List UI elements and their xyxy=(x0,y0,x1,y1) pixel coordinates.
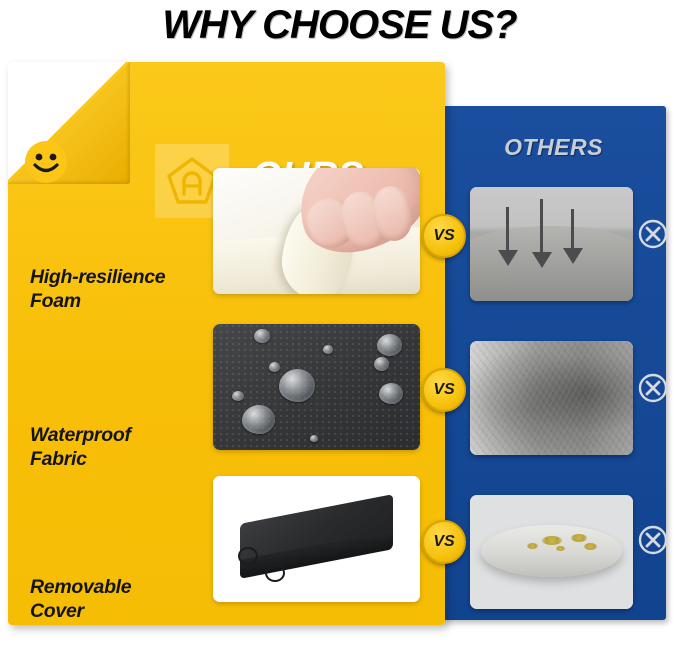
feature-label-removable-cover: Removable Cover xyxy=(30,575,210,624)
circled-x-icon xyxy=(638,373,668,403)
down-arrow-icon xyxy=(540,199,543,253)
cushion-tie xyxy=(265,564,285,582)
water-droplet xyxy=(269,362,280,372)
vs-badge: VS xyxy=(422,520,466,564)
wet-fabric-photo xyxy=(470,341,633,455)
vs-badge: VS xyxy=(422,214,466,258)
ours-image-removable-cover xyxy=(213,476,420,602)
feature-label-line1: High-resilience xyxy=(30,266,165,288)
page-title: WHY CHOOSE US? xyxy=(0,0,679,50)
water-droplet xyxy=(323,345,333,354)
others-image-waterproof-fabric xyxy=(470,341,633,455)
circled-x-icon xyxy=(638,525,668,555)
water-droplet xyxy=(379,383,403,404)
others-panel: OTHERS xyxy=(441,106,666,620)
fabric-texture xyxy=(470,341,633,455)
round-cushion xyxy=(481,525,621,577)
others-heading: OTHERS xyxy=(441,134,666,161)
stained-cushion-photo xyxy=(470,495,633,609)
feature-label-line2: Foam xyxy=(30,290,81,312)
circled-x-icon xyxy=(638,219,668,249)
feature-label-waterproof-fabric: Waterproof Fabric xyxy=(30,423,210,472)
ours-panel: OURS High-resilience Foam Waterproof Fab… xyxy=(8,62,445,625)
feature-label-line1: Waterproof xyxy=(30,424,131,446)
ours-image-high-resilience-foam xyxy=(213,168,420,294)
water-droplet xyxy=(374,357,389,371)
feature-label-high-resilience-foam: High-resilience Foam xyxy=(30,265,210,314)
smiley-face-icon xyxy=(24,140,68,184)
foam-photo xyxy=(213,168,420,294)
black-cushion-photo xyxy=(213,476,420,602)
down-arrow-icon xyxy=(571,209,574,249)
water-droplet xyxy=(242,405,275,434)
down-arrow-icon xyxy=(506,207,509,251)
water-droplet xyxy=(279,369,315,402)
sagging-foam-photo xyxy=(470,187,633,301)
stain-mark xyxy=(527,543,538,549)
vs-badge: VS xyxy=(422,368,466,412)
others-image-high-resilience-foam xyxy=(470,187,633,301)
others-image-removable-cover xyxy=(470,495,633,609)
stain-mark xyxy=(542,536,562,545)
water-droplet xyxy=(377,334,402,356)
sag-surface xyxy=(470,226,633,301)
ours-image-waterproof-fabric xyxy=(213,324,420,450)
water-droplet xyxy=(310,435,318,442)
stain-mark xyxy=(584,543,597,550)
feature-label-line1: Removable xyxy=(30,576,131,598)
cushion-tie xyxy=(238,547,258,565)
water-droplet xyxy=(254,329,270,343)
feature-label-line2: Fabric xyxy=(30,448,87,470)
waterproof-fabric-photo xyxy=(213,324,420,450)
stain-mark xyxy=(571,534,587,542)
water-droplet xyxy=(232,391,244,401)
feature-label-line2: Cover xyxy=(30,600,84,622)
